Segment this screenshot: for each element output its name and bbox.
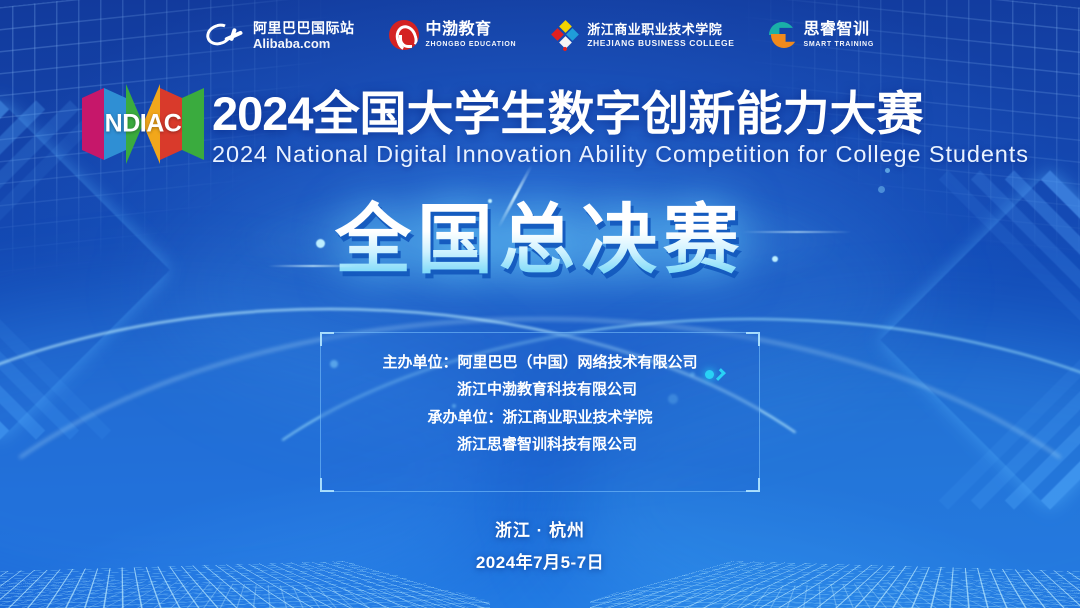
headline-sparkle xyxy=(316,239,325,248)
organizer-label: 承办单位： xyxy=(427,410,502,425)
sponsor-logo-zhejiang-business-college: 浙江商业职业技术学院 ZHEJIANG BUSINESS COLLEGE xyxy=(550,16,734,54)
organizer-value: 浙江思睿智训科技有限公司 xyxy=(457,437,637,452)
event-date: 2024年7月5-7日 xyxy=(0,548,1080,573)
sponsor-name-en: ZHEJIANG BUSINESS COLLEGE xyxy=(587,39,734,48)
headline-block: 全国总决赛 xyxy=(0,193,1080,288)
arrow-accent-decoration xyxy=(705,369,723,380)
footer-block: 浙江 · 杭州 2024年7月5-7日 xyxy=(0,516,1080,573)
sponsor-name-en: ZHONGBO EDUCATION xyxy=(426,41,517,48)
event-poster: 阿里巴巴国际站 Alibaba.com 中渤教育 ZHONGBO EDUCATI… xyxy=(0,0,1080,608)
event-location: 浙江 · 杭州 xyxy=(0,516,1080,541)
organizer-label: 主办单位： xyxy=(382,355,457,370)
smart-training-logo-icon xyxy=(769,21,797,49)
page-title-cn: 2024全国大学生数字创新能力大赛 xyxy=(212,86,1012,142)
page-title-year: 2024 xyxy=(212,87,313,140)
organizer-value: 浙江商业职业技术学院 xyxy=(503,410,653,425)
ndiac-logo: NDIAC xyxy=(82,84,204,164)
sponsor-name-cn: 阿里巴巴国际站 xyxy=(253,21,355,35)
organizer-value: 阿里巴巴（中国）网络技术有限公司 xyxy=(458,355,698,370)
sponsor-logo-zhongbo: 中渤教育 ZHONGBO EDUCATION xyxy=(389,16,517,54)
background-speck xyxy=(878,186,885,193)
box-corner xyxy=(320,332,334,346)
organizer-value: 浙江中渤教育科技有限公司 xyxy=(457,382,637,397)
organizer-info-box: 主办单位： 阿里巴巴（中国）网络技术有限公司 浙江中渤教育科技有限公司 承办单位… xyxy=(320,332,760,492)
page-title-en: 2024 National Digital Innovation Ability… xyxy=(212,141,1012,168)
sponsor-name-cn: 中渤教育 xyxy=(426,22,517,38)
organizer-row: 浙江思睿智训科技有限公司 xyxy=(321,437,759,452)
ndiac-logo-text: NDIAC xyxy=(82,110,204,139)
sponsor-name-en: SMART TRAINING xyxy=(804,41,874,48)
box-corner xyxy=(320,478,334,492)
sponsor-logo-bar: 阿里巴巴国际站 Alibaba.com 中渤教育 ZHONGBO EDUCATI… xyxy=(0,14,1080,56)
organizer-row: 浙江中渤教育科技有限公司 xyxy=(321,382,759,397)
sponsor-name-cn: 思睿智训 xyxy=(804,22,874,38)
headline-sparkle xyxy=(772,256,778,262)
zhongbo-logo-icon xyxy=(389,20,419,50)
sponsor-name-cn: 浙江商业职业技术学院 xyxy=(587,23,734,36)
box-corner xyxy=(746,332,760,346)
headline-light-streak xyxy=(742,231,852,233)
headline-light-streak xyxy=(268,265,358,267)
page-title-cn-rest: 全国大学生数字创新能力大赛 xyxy=(313,87,924,140)
alibaba-logo-icon xyxy=(206,22,246,48)
zhejiang-business-college-logo-icon xyxy=(550,19,580,51)
background-speck xyxy=(885,168,890,173)
box-corner xyxy=(746,478,760,492)
headline-text: 全国总决赛 xyxy=(335,193,745,288)
sponsor-name-en: Alibaba.com xyxy=(253,37,355,50)
sponsor-logo-alibaba: 阿里巴巴国际站 Alibaba.com xyxy=(206,16,355,54)
organizer-row: 承办单位： 浙江商业职业技术学院 xyxy=(321,410,759,425)
organizer-row: 主办单位： 阿里巴巴（中国）网络技术有限公司 xyxy=(321,355,759,370)
sponsor-logo-smart-training: 思睿智训 SMART TRAINING xyxy=(769,16,874,54)
organizer-lines: 主办单位： 阿里巴巴（中国）网络技术有限公司 浙江中渤教育科技有限公司 承办单位… xyxy=(321,355,759,464)
headline-sparkle xyxy=(488,199,492,203)
